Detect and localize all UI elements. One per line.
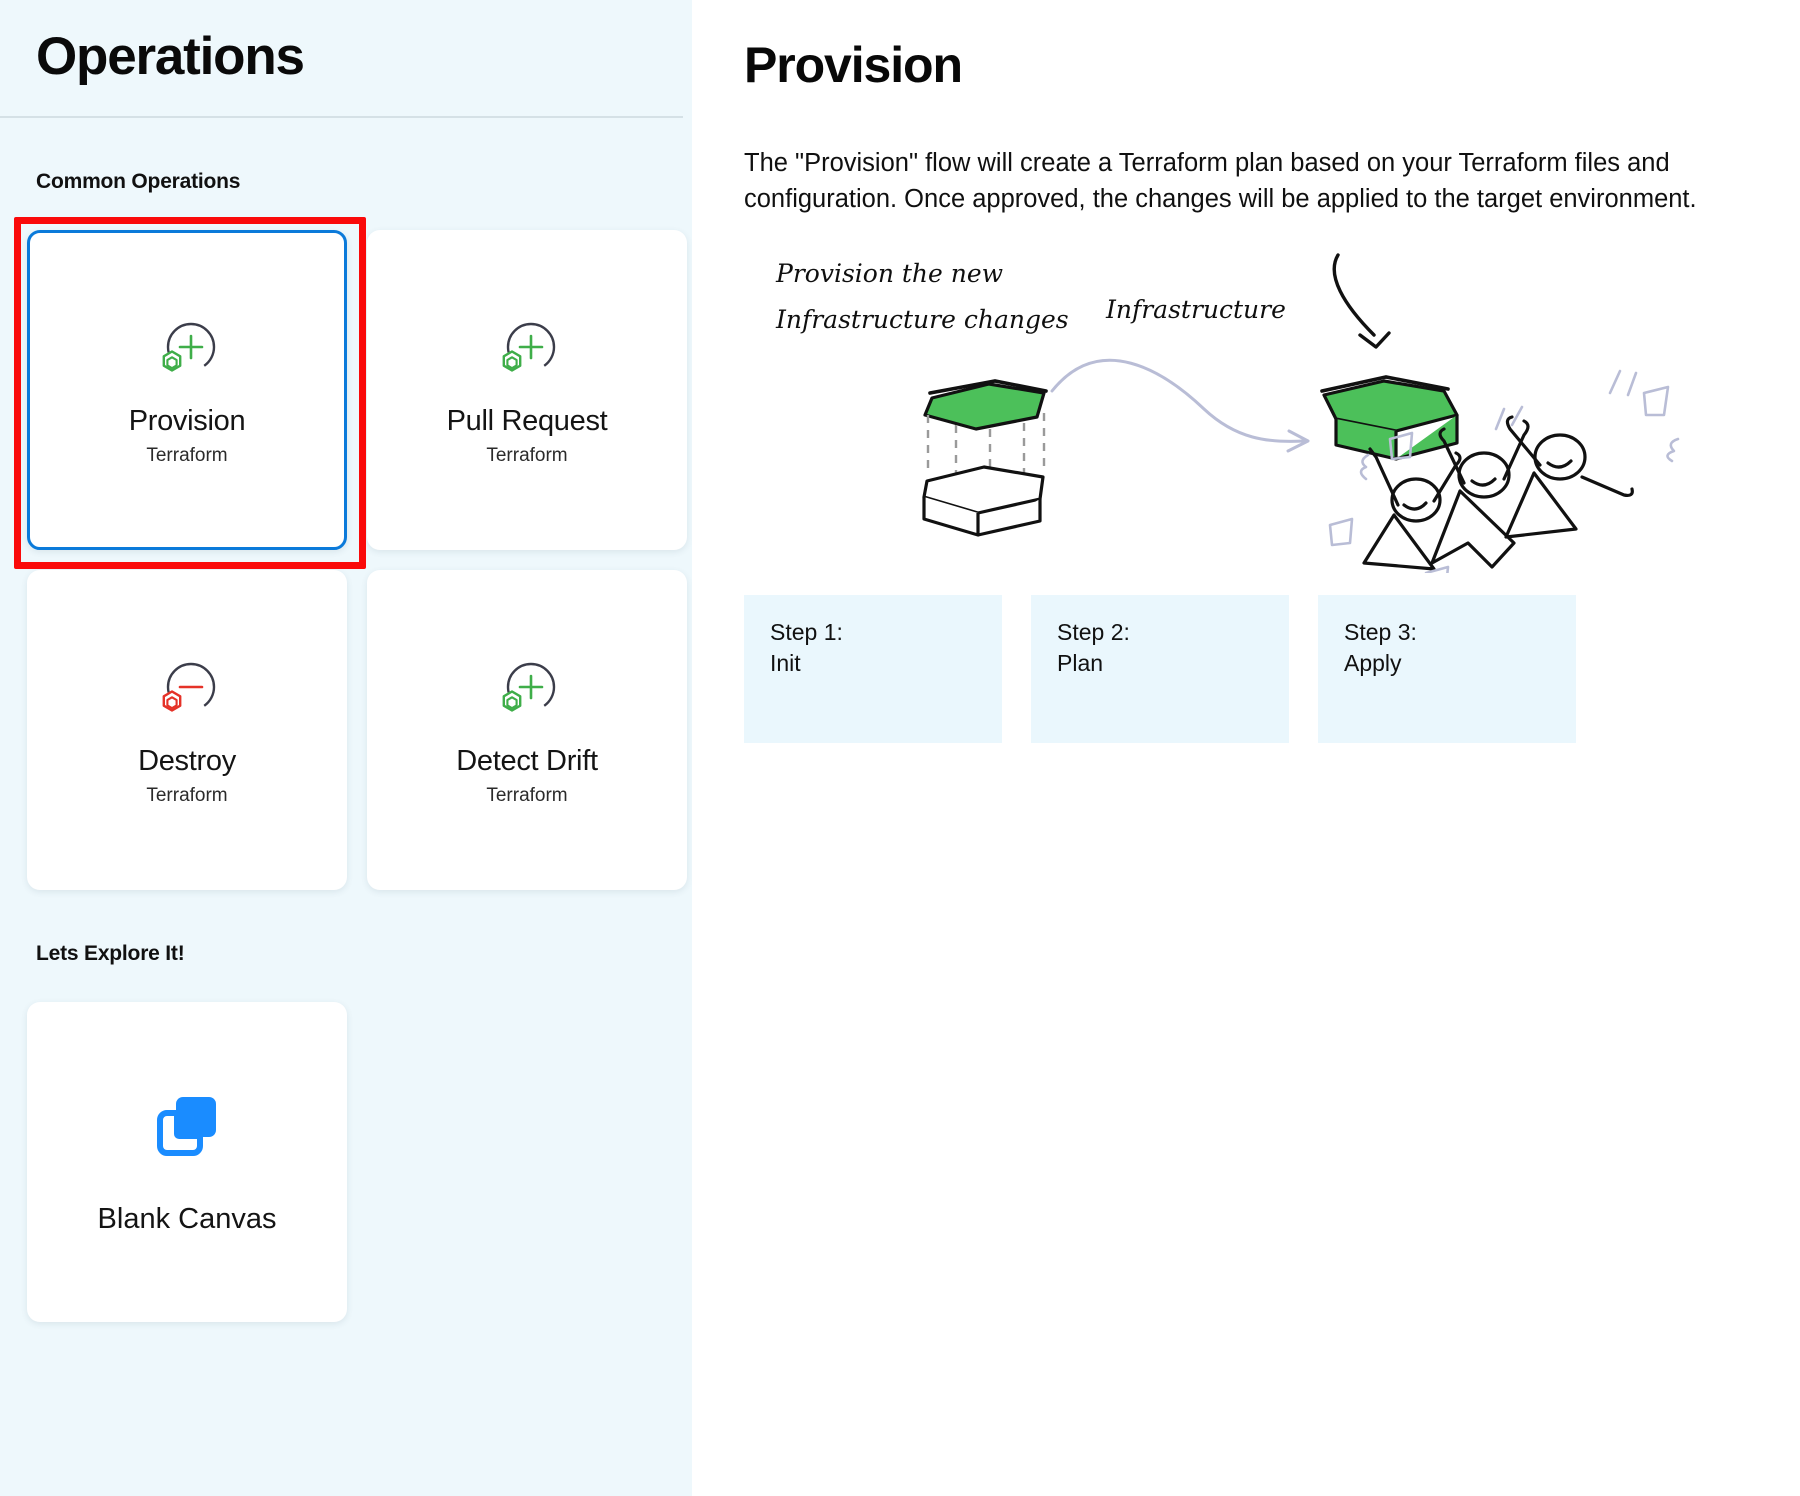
operation-card-blank-canvas[interactable]: Blank Canvas <box>27 1002 347 1322</box>
operation-card-subtitle: Terraform <box>486 445 567 467</box>
operation-card-subtitle: Terraform <box>146 785 227 807</box>
operations-page: Operations Common Operations Provision T… <box>0 0 1800 1496</box>
operations-sidebar: Operations Common Operations Provision T… <box>0 0 692 1496</box>
explore-grid: Blank Canvas <box>0 966 692 1322</box>
circle-plus-hexagon-icon <box>150 314 224 388</box>
step-box-1: Step 1: Init <box>744 595 1002 743</box>
operation-card-detect-drift[interactable]: Detect Drift Terraform <box>367 570 687 890</box>
step-name: Init <box>770 648 976 679</box>
operation-card-subtitle: Terraform <box>486 785 567 807</box>
operation-card-title: Destroy <box>138 744 236 779</box>
step-heading: Step 3: <box>1344 617 1550 648</box>
hexagon-prism-sketch <box>924 381 1046 535</box>
section-label-lets-explore-it: Lets Explore It! <box>0 890 692 966</box>
step-box-2: Step 2: Plan <box>1031 595 1289 743</box>
circle-plus-hexagon-icon <box>490 314 564 388</box>
provision-illustration: Provision the new Infrastructure changes… <box>744 243 1744 573</box>
step-name: Apply <box>1344 648 1550 679</box>
circle-plus-hexagon-icon <box>490 654 564 728</box>
detail-title: Provision <box>744 38 1750 93</box>
operation-card-subtitle: Terraform <box>146 445 227 467</box>
down-arrow <box>1334 255 1389 347</box>
detail-description: The "Provision" flow will create a Terra… <box>744 145 1750 217</box>
selection-highlight-rect <box>14 217 366 569</box>
operation-card-provision[interactable]: Provision Terraform <box>27 230 347 550</box>
operation-card-pull-request[interactable]: Pull Request Terraform <box>367 230 687 550</box>
common-operations-grid: Provision Terraform Pull Request Terrafo… <box>0 194 692 890</box>
celebrating-people-sketch <box>1364 417 1632 569</box>
step-name: Plan <box>1057 648 1263 679</box>
sidebar-header: Operations <box>0 0 692 116</box>
section-label-common-operations: Common Operations <box>0 118 692 194</box>
detail-panel: Provision The "Provision" flow will crea… <box>692 0 1800 1496</box>
operation-card-destroy[interactable]: Destroy Terraform <box>27 570 347 890</box>
operation-card-title: Pull Request <box>447 404 608 439</box>
page-title: Operations <box>36 28 656 86</box>
step-heading: Step 1: <box>770 617 976 648</box>
circle-minus-hexagon-icon <box>150 654 224 728</box>
provision-steps: Step 1: Init Step 2: Plan Step 3: Apply <box>744 595 1750 743</box>
step-box-3: Step 3: Apply <box>1318 595 1576 743</box>
step-heading: Step 2: <box>1057 617 1263 648</box>
operation-card-title: Blank Canvas <box>98 1203 277 1236</box>
curved-arrow <box>1052 361 1308 452</box>
stacked-squares-icon <box>150 1089 224 1163</box>
operation-card-title: Detect Drift <box>456 744 597 779</box>
operation-card-title: Provision <box>129 404 246 439</box>
